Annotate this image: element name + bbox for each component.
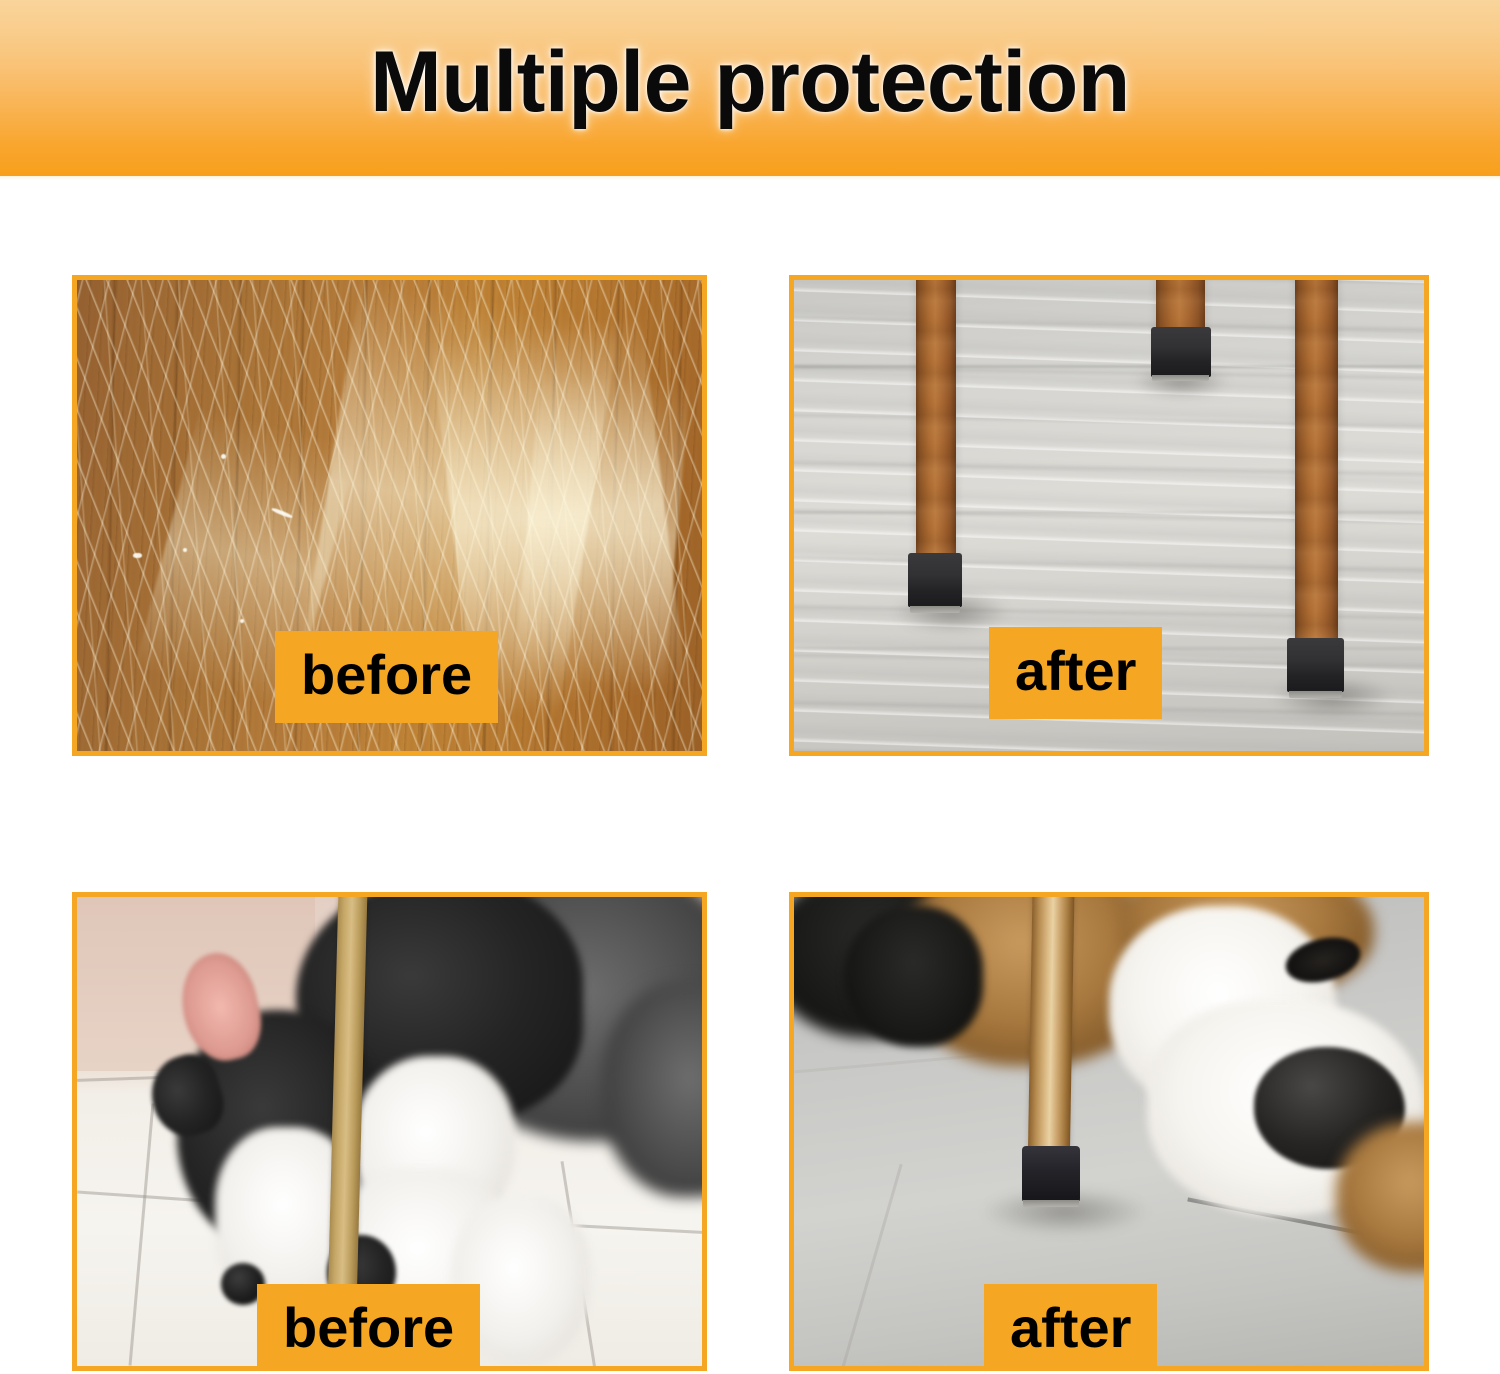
cap-felt-pad <box>1289 691 1342 698</box>
table-leg-front-left <box>916 280 956 591</box>
badge-after: after <box>989 627 1162 719</box>
protected-leg-photo: after <box>794 897 1424 1366</box>
page-title: Multiple protection <box>0 0 1500 176</box>
floor-speck <box>133 553 142 558</box>
chair-leg-cap <box>1022 1146 1080 1202</box>
floor-speck <box>240 619 244 623</box>
chair-leg-cap-back <box>1151 327 1211 376</box>
header-underline <box>0 176 1500 181</box>
wood-grain <box>916 280 956 591</box>
cap-felt-pad <box>910 606 960 613</box>
husky-chewing-photo: before <box>77 897 702 1366</box>
badge-after: after <box>984 1284 1157 1366</box>
table-legs-photo: after <box>794 280 1424 751</box>
comparison-panel-before-floor[interactable]: before <box>72 275 707 756</box>
chair-leg-cap-front-left <box>908 553 962 607</box>
comparison-panel-after-floor[interactable]: after <box>789 275 1429 756</box>
dog-dark-patch <box>844 906 983 1047</box>
scratched-floor-photo: before <box>77 280 702 751</box>
table-leg-front-right <box>1295 280 1338 676</box>
badge-before: before <box>275 631 498 723</box>
wood-grain <box>1295 280 1338 676</box>
comparison-panel-before-dog[interactable]: before <box>72 892 707 1371</box>
cap-felt-pad <box>1152 375 1209 381</box>
chair-leg-cap-front-right <box>1287 638 1344 692</box>
header-banner: Multiple protection <box>0 0 1500 176</box>
badge-before: before <box>257 1284 480 1366</box>
scratch-cluster-4 <box>514 368 691 691</box>
comparison-panel-after-dog[interactable]: after <box>789 892 1429 1371</box>
cap-felt-pad <box>1023 1200 1078 1208</box>
chair-leg-wood <box>1028 897 1075 1179</box>
